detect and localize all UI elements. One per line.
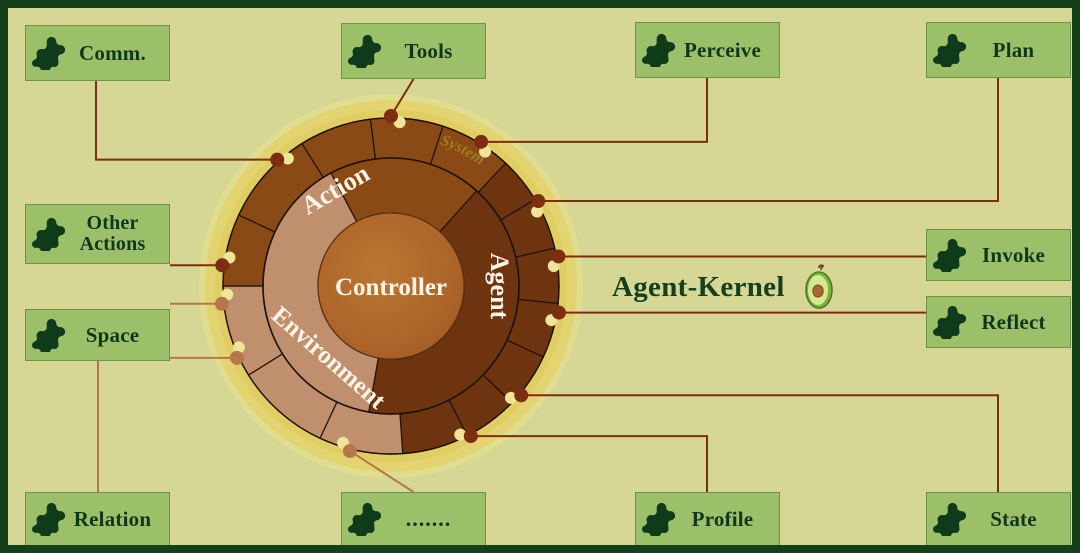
- avocado-icon: [799, 264, 839, 310]
- node-box-relation[interactable]: Relation: [25, 492, 170, 546]
- outer-segment-1: [371, 118, 443, 164]
- puzzle-piece-icon: [933, 502, 967, 536]
- node-box-other-actions[interactable]: Other Actions: [25, 204, 170, 264]
- puzzle-piece-icon: [348, 34, 382, 68]
- node-dot-perceive[interactable]: [474, 135, 488, 149]
- puzzle-piece-icon: [32, 502, 66, 536]
- puzzle-piece-icon: [642, 502, 676, 536]
- agent-kernel-caption: Agent-Kernel: [612, 264, 839, 310]
- node-dot-reflect[interactable]: [552, 306, 566, 320]
- puzzle-piece-icon: [348, 502, 382, 536]
- connector-perceive: [481, 78, 707, 142]
- node-dot-relation[interactable]: [230, 351, 244, 365]
- node-dot-state[interactable]: [514, 388, 528, 402]
- node-label-ellipsis: .......: [382, 507, 479, 530]
- node-dot-other-actions[interactable]: [215, 258, 229, 272]
- node-box-state[interactable]: State: [926, 492, 1071, 546]
- agent-kernel-radial-diagram: Action Agent Environment Controller Syst…: [8, 8, 1080, 553]
- node-label-profile: Profile: [676, 508, 773, 530]
- puzzle-piece-icon: [32, 217, 66, 251]
- puzzle-piece-icon: [933, 238, 967, 272]
- node-label-comm: Comm.: [66, 42, 163, 64]
- node-label-plan: Plan: [967, 39, 1064, 61]
- controller-label: Controller: [335, 274, 447, 301]
- connector-plan: [538, 78, 998, 201]
- node-box-invoke[interactable]: Invoke: [926, 229, 1071, 281]
- connector-relation: [98, 358, 237, 492]
- node-label-state: State: [967, 508, 1064, 530]
- node-dot-ellipsis[interactable]: [343, 444, 357, 458]
- node-box-space[interactable]: Space: [25, 309, 170, 361]
- node-label-tools: Tools: [382, 40, 479, 62]
- node-dot-invoke[interactable]: [551, 249, 565, 263]
- node-box-perceive[interactable]: Perceive: [635, 22, 780, 78]
- connector-comm: [96, 81, 277, 160]
- node-label-other-actions: Other Actions: [66, 213, 163, 255]
- node-label-invoke: Invoke: [967, 244, 1064, 266]
- node-label-reflect: Reflect: [967, 311, 1064, 333]
- node-dot-plan[interactable]: [531, 194, 545, 208]
- puzzle-piece-icon: [32, 36, 66, 70]
- node-dot-profile[interactable]: [464, 429, 478, 443]
- puzzle-piece-icon: [642, 33, 676, 67]
- sector-label-agent: Agent: [485, 253, 514, 320]
- node-dot-tools[interactable]: [384, 109, 398, 123]
- node-box-reflect[interactable]: Reflect: [926, 296, 1071, 348]
- puzzle-piece-icon: [933, 305, 967, 339]
- connector-profile: [471, 436, 707, 492]
- puzzle-piece-icon: [32, 318, 66, 352]
- diagram-canvas: Action Agent Environment Controller Syst…: [0, 0, 1080, 553]
- node-box-comm[interactable]: Comm.: [25, 25, 170, 81]
- node-dot-comm[interactable]: [270, 153, 284, 167]
- puzzle-piece-icon: [933, 33, 967, 67]
- node-box-plan[interactable]: Plan: [926, 22, 1071, 78]
- agent-kernel-title: Agent-Kernel: [612, 271, 785, 304]
- node-dot-space[interactable]: [215, 297, 229, 311]
- node-label-perceive: Perceive: [676, 39, 773, 61]
- node-label-space: Space: [66, 324, 163, 346]
- node-box-ellipsis[interactable]: .......: [341, 492, 486, 546]
- node-box-tools[interactable]: Tools: [341, 23, 486, 79]
- connector-state: [521, 395, 998, 492]
- node-label-relation: Relation: [66, 508, 163, 530]
- node-box-profile[interactable]: Profile: [635, 492, 780, 546]
